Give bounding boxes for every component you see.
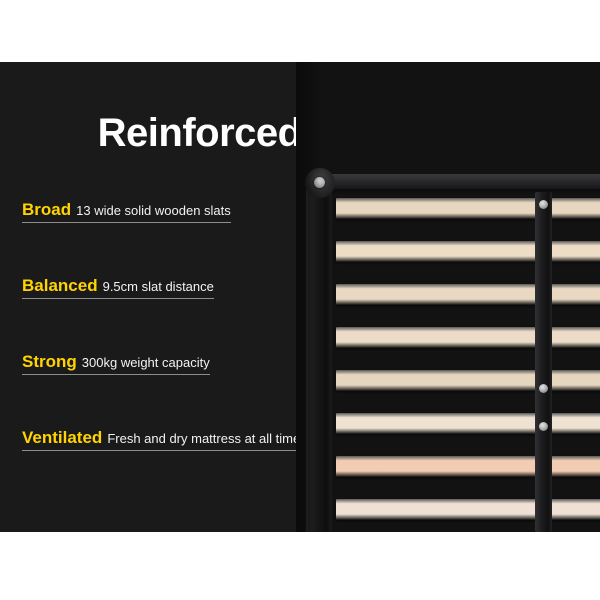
feature-row-ventilated: VentilatedFresh and dry mattress at all …: [22, 428, 322, 504]
wooden-slat: [550, 499, 600, 520]
feature-value-broad: 13 wide solid wooden slats: [71, 203, 231, 218]
wooden-slat: [550, 284, 600, 305]
wooden-slat: [336, 456, 539, 477]
wooden-slat: [336, 241, 539, 262]
dark-banner-panel: Reinforced thick slats Broad13 wide soli…: [0, 62, 600, 532]
corner-bolt-icon: [314, 177, 325, 188]
beam-bolt-icon: [539, 384, 548, 393]
feature-row-strong: Strong300kg weight capacity: [22, 352, 322, 428]
wooden-slat: [336, 370, 539, 391]
product-photo-bed-slats: [296, 62, 600, 532]
feature-value-ventilated: Fresh and dry mattress at all times: [102, 431, 306, 446]
wooden-slat: [336, 198, 539, 219]
feature-underline-strong: Strong300kg weight capacity: [22, 352, 210, 375]
wooden-slat: [550, 456, 600, 477]
wooden-slat: [550, 370, 600, 391]
feature-underline-broad: Broad13 wide solid wooden slats: [22, 200, 231, 223]
feature-key-strong: Strong: [22, 352, 77, 371]
bed-frame-left-rail: [310, 186, 332, 532]
bed-frame-top-rail: [312, 174, 600, 189]
feature-key-balanced: Balanced: [22, 276, 98, 295]
wooden-slat: [336, 413, 539, 434]
beam-bolt-icon: [539, 200, 548, 209]
feature-key-broad: Broad: [22, 200, 71, 219]
feature-underline-ventilated: VentilatedFresh and dry mattress at all …: [22, 428, 307, 451]
feature-row-broad: Broad13 wide solid wooden slats: [22, 200, 322, 276]
wooden-slat: [336, 284, 539, 305]
wooden-slat: [336, 327, 539, 348]
feature-value-strong: 300kg weight capacity: [77, 355, 210, 370]
product-banner-page: Reinforced thick slats Broad13 wide soli…: [0, 0, 600, 600]
feature-value-balanced: 9.5cm slat distance: [98, 279, 214, 294]
feature-row-balanced: Balanced9.5cm slat distance: [22, 276, 322, 352]
wooden-slat: [550, 413, 600, 434]
wooden-slat: [550, 327, 600, 348]
wooden-slat: [550, 198, 600, 219]
feature-underline-balanced: Balanced9.5cm slat distance: [22, 276, 214, 299]
feature-key-ventilated: Ventilated: [22, 428, 102, 447]
beam-bolt-icon: [539, 422, 548, 431]
bed-frame-top-rail-shadow: [312, 189, 600, 196]
feature-list: Broad13 wide solid wooden slats Balanced…: [22, 200, 322, 504]
wooden-slat: [550, 241, 600, 262]
wooden-slat: [336, 499, 539, 520]
bed-frame-center-support-beam: [535, 192, 552, 532]
